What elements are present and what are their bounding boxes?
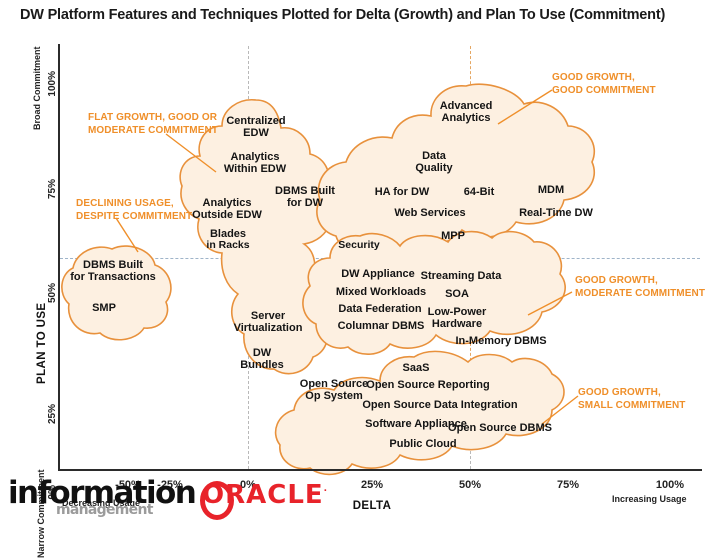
item-data-quality-1: Data: [422, 150, 446, 162]
annotation-good-growth-moderate-line1: GOOD GROWTH,: [575, 275, 705, 288]
x-tick-75: 75%: [543, 479, 593, 491]
item-web-services: Web Services: [394, 207, 465, 219]
gridline-horizontal-50: [60, 258, 700, 259]
annotation-flat-growth: FLAT GROWTH, GOOD OR MODERATE COMMITMENT: [88, 112, 218, 137]
y-tick-50: 50%: [47, 283, 58, 323]
y-axis-title: PLAN TO USE: [36, 312, 48, 384]
item-real-time-dw: Real-Time DW: [519, 207, 593, 219]
item-open-source-op-system-1: Open Source: [300, 378, 368, 390]
item-open-source-reporting: Open Source Reporting: [366, 379, 489, 391]
annotation-leader-lines: [116, 90, 578, 424]
leader-good-small: [542, 396, 578, 424]
annotation-good-growth-moderate: GOOD GROWTH, MODERATE COMMITMENT: [575, 275, 705, 300]
y-tick-25: 25%: [47, 404, 58, 444]
item-analytics-outside-edw-2: Outside EDW: [192, 209, 262, 221]
item-dbms-built-for-transactions-2: for Transactions: [70, 271, 156, 283]
item-columnar-dbms: Columnar DBMS: [338, 320, 425, 332]
x-axis-title: DELTA: [347, 500, 397, 512]
item-dbms-built-for-transactions-1: DBMS Built: [83, 259, 143, 271]
item-dbms-built-for-dw-1: DBMS Built: [275, 185, 335, 197]
oracle-logo-oval: [200, 481, 234, 520]
x-caption-increasing-usage: Increasing Usage: [612, 494, 687, 504]
item-security: Security: [338, 240, 379, 252]
annotation-declining-usage: DECLINING USAGE, DESPITE COMMITMENT: [76, 198, 192, 223]
item-in-memory-dbms: In-Memory DBMS: [455, 335, 546, 347]
page-title: DW Platform Features and Techniques Plot…: [20, 7, 700, 23]
leader-good-moderate: [528, 292, 572, 315]
annotation-good-growth-moderate-line2: MODERATE COMMITMENT: [575, 288, 705, 301]
item-mixed-workloads: Mixed Workloads: [336, 286, 426, 298]
annotation-good-growth-good-line1: GOOD GROWTH,: [552, 72, 656, 85]
item-analytics-within-edw-1: Analytics: [231, 151, 280, 163]
y-tick-100: 100%: [47, 71, 58, 111]
item-open-source-op-system-2: Op System: [305, 390, 362, 402]
annotation-flat-growth-line2: MODERATE COMMITMENT: [88, 125, 218, 138]
item-analytics-outside-edw-1: Analytics: [203, 197, 252, 209]
annotation-declining-usage-line1: DECLINING USAGE,: [76, 198, 192, 211]
annotation-good-growth-small: GOOD GROWTH, SMALL COMMITMENT: [578, 387, 686, 412]
item-open-source-dbms: Open Source DBMS: [448, 422, 552, 434]
item-data-quality-2: Quality: [415, 162, 452, 174]
item-dbms-built-for-dw-2: for DW: [287, 197, 323, 209]
item-blades-in-racks-2: in Racks: [206, 240, 249, 252]
annotation-flat-growth-line1: FLAT GROWTH, GOOD OR: [88, 112, 218, 125]
item-advanced-analytics-2: Analytics: [442, 112, 491, 124]
item-advanced-analytics-1: Advanced: [440, 100, 493, 112]
item-server-virtualization-2: Virtualization: [234, 322, 303, 334]
x-axis-line: [58, 469, 702, 471]
item-streaming-data: Streaming Data: [421, 270, 502, 282]
x-tick-100: 100%: [645, 479, 695, 491]
item-analytics-within-edw-2: Within EDW: [224, 163, 286, 175]
item-64-bit: 64-Bit: [464, 186, 495, 198]
annotation-declining-usage-line2: DESPITE COMMITMENT: [76, 211, 192, 224]
logo-oracle-mark: ·: [324, 486, 328, 496]
logo-management-word: management: [56, 503, 153, 517]
item-public-cloud: Public Cloud: [389, 438, 456, 450]
x-tick-25: 25%: [347, 479, 397, 491]
annotation-good-growth-small-line1: GOOD GROWTH,: [578, 387, 686, 400]
item-dw-bundles-1: DW: [253, 347, 271, 359]
item-low-power-hardware-2: Hardware: [432, 318, 482, 330]
item-open-source-data-integration: Open Source Data Integration: [362, 399, 517, 411]
leader-declining-usage: [116, 218, 138, 252]
item-soa: SOA: [445, 288, 469, 300]
leader-good-good: [498, 90, 552, 124]
information-management-logo: information management: [8, 478, 183, 518]
item-dw-bundles-2: Bundles: [240, 359, 283, 371]
item-saas: SaaS: [403, 362, 430, 374]
y-tick-75: 75%: [47, 179, 58, 219]
y-axis-line: [58, 44, 60, 471]
item-smp: SMP: [92, 302, 116, 314]
item-centralized-edw-1: Centralized: [226, 115, 285, 127]
annotation-good-growth-good-line2: GOOD COMMITMENT: [552, 85, 656, 98]
item-server-virtualization-1: Server: [251, 310, 285, 322]
annotation-good-growth-small-line2: SMALL COMMITMENT: [578, 400, 686, 413]
item-data-federation: Data Federation: [338, 303, 421, 315]
item-dw-appliance: DW Appliance: [341, 268, 415, 280]
y-caption-broad-commitment: Broad Commitment: [32, 60, 42, 130]
chart-root: DW Platform Features and Techniques Plot…: [0, 0, 709, 520]
item-centralized-edw-2: EDW: [243, 127, 269, 139]
item-mpp: MPP: [441, 230, 465, 242]
item-mdm: MDM: [538, 184, 564, 196]
item-ha-for-dw: HA for DW: [375, 186, 430, 198]
leader-flat-growth: [166, 134, 216, 172]
item-low-power-hardware-1: Low-Power: [428, 306, 487, 318]
x-tick-50: 50%: [445, 479, 495, 491]
annotation-good-growth-good: GOOD GROWTH, GOOD COMMITMENT: [552, 72, 656, 97]
